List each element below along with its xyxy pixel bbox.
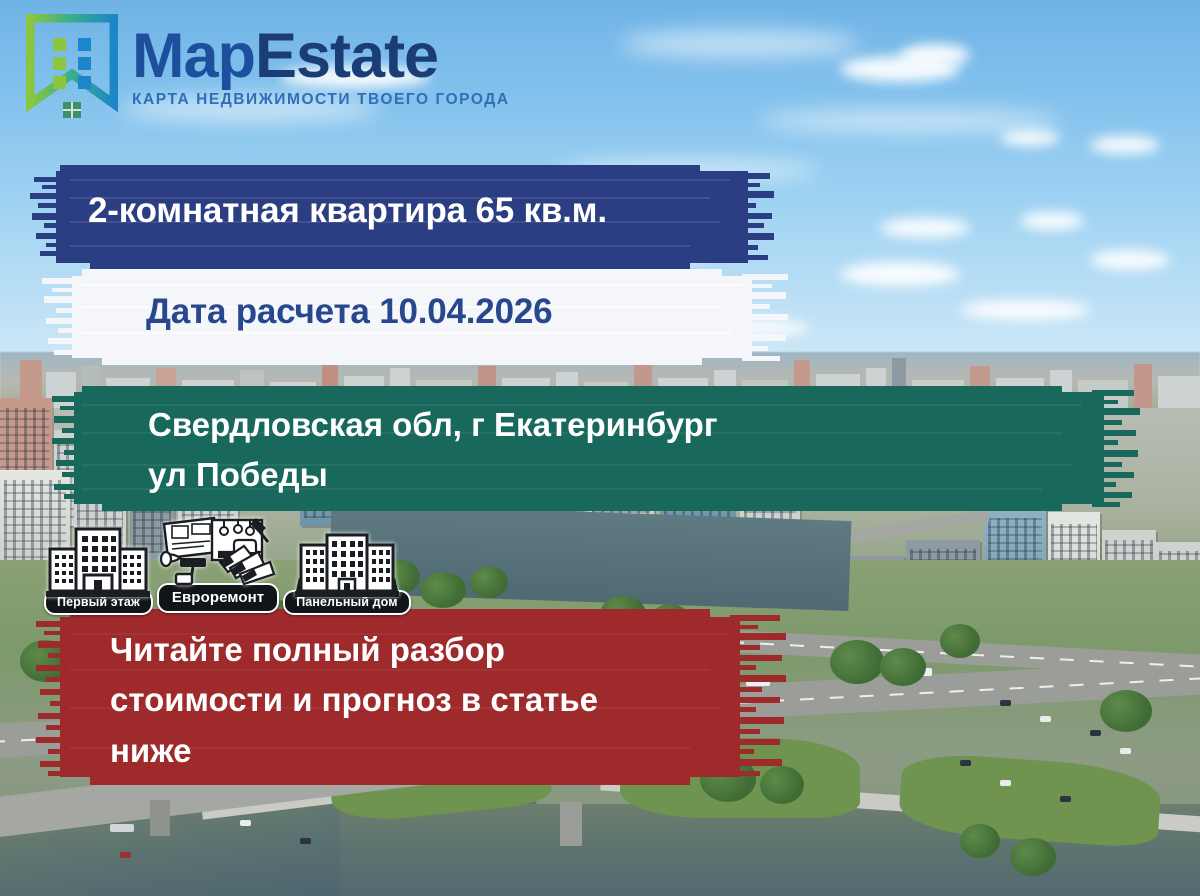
- brand-name-map: Map: [132, 21, 255, 91]
- brand-text: MapEstate КАРТА НЕДВИЖИМОСТИ ТВОЕГО ГОРО…: [132, 27, 510, 110]
- banner-title: 2-комнатная квартира 65 кв.м.: [30, 163, 774, 271]
- cta-line-3: ниже: [110, 732, 192, 769]
- bookmark-building-icon: [26, 14, 118, 122]
- badge-panel-building[interactable]: Панельный дом: [283, 525, 410, 616]
- banner-address: Свердловская обл, г Екатеринбург ул Побе…: [52, 384, 1142, 514]
- banner-address-text: Свердловская обл, г Екатеринбург ул Побе…: [148, 400, 718, 500]
- cta-line-1: Читайте полный разбор: [110, 631, 505, 668]
- cta-line-2: стоимости и прогноз в статье: [110, 681, 598, 718]
- banner-title-text: 2-комнатная квартира 65 кв.м.: [88, 191, 607, 231]
- building-facade-icon: [46, 525, 150, 597]
- banner-cta-text: Читайте полный разбор стоимости и прогно…: [110, 625, 598, 776]
- address-line-1: Свердловская обл, г Екатеринбург: [148, 406, 718, 443]
- badge-euro-renovation[interactable]: Евроремонт: [157, 512, 279, 613]
- promo-card: MapEstate КАРТА НЕДВИЖИМОСТИ ТВОЕГО ГОРО…: [0, 0, 1200, 896]
- renovation-tools-icon: [160, 512, 276, 590]
- address-line-2: ул Победы: [148, 456, 328, 493]
- badge-first-floor[interactable]: Первый этаж: [44, 525, 153, 616]
- brand-tagline: КАРТА НЕДВИЖИМОСТИ ТВОЕГО ГОРОДА: [132, 91, 510, 109]
- feature-badges: Первый этаж: [44, 512, 411, 615]
- banner-date: Дата расчета 10.04.2026: [42, 266, 788, 368]
- banner-cta: Читайте полный разбор стоимости и прогно…: [36, 607, 792, 789]
- brand-name-estate: Estate: [255, 21, 438, 91]
- brand-name: MapEstate: [132, 27, 510, 87]
- brand-logo[interactable]: MapEstate КАРТА НЕДВИЖИМОСТИ ТВОЕГО ГОРО…: [26, 14, 510, 122]
- banner-date-text: Дата расчета 10.04.2026: [146, 292, 552, 332]
- panel-building-icon: [295, 525, 399, 597]
